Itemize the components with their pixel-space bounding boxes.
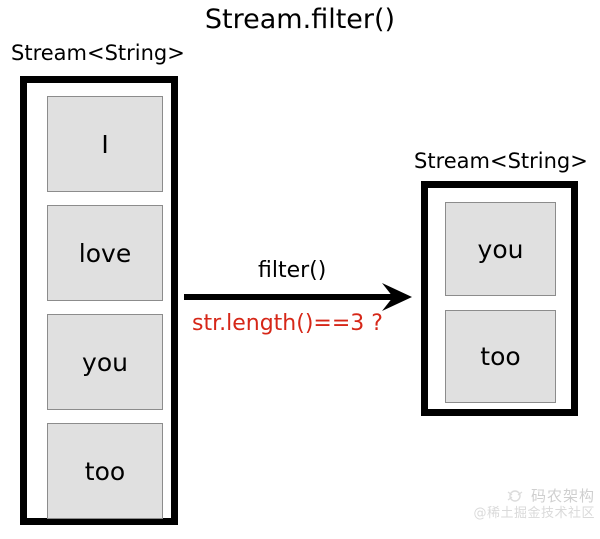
- stream-item: too: [445, 310, 556, 403]
- stream-item: I: [47, 96, 163, 192]
- watermark-logo-icon: [505, 488, 525, 504]
- stream-item: too: [47, 423, 163, 519]
- operation-name-label: filter(): [258, 258, 326, 283]
- watermark-name: 码农架构: [531, 487, 595, 506]
- stream-item: love: [47, 205, 163, 301]
- watermark: 码农架构 @稀土掘金技术社区: [455, 487, 595, 522]
- result-stream-label: Stream<String>: [414, 149, 588, 173]
- right-arrow-icon: [182, 282, 414, 312]
- page-title: Stream.filter(): [0, 4, 600, 35]
- watermark-source: @稀土掘金技术社区: [455, 506, 595, 522]
- diagram-canvas: Stream.filter() Stream<String> I love yo…: [0, 0, 600, 539]
- source-stream-box: I love you too: [20, 76, 178, 525]
- result-stream-box: you too: [421, 181, 578, 416]
- stream-item: you: [47, 314, 163, 410]
- stream-item: you: [445, 202, 556, 296]
- source-stream-label: Stream<String>: [11, 41, 185, 65]
- filter-predicate-label: str.length()==3 ?: [192, 311, 383, 336]
